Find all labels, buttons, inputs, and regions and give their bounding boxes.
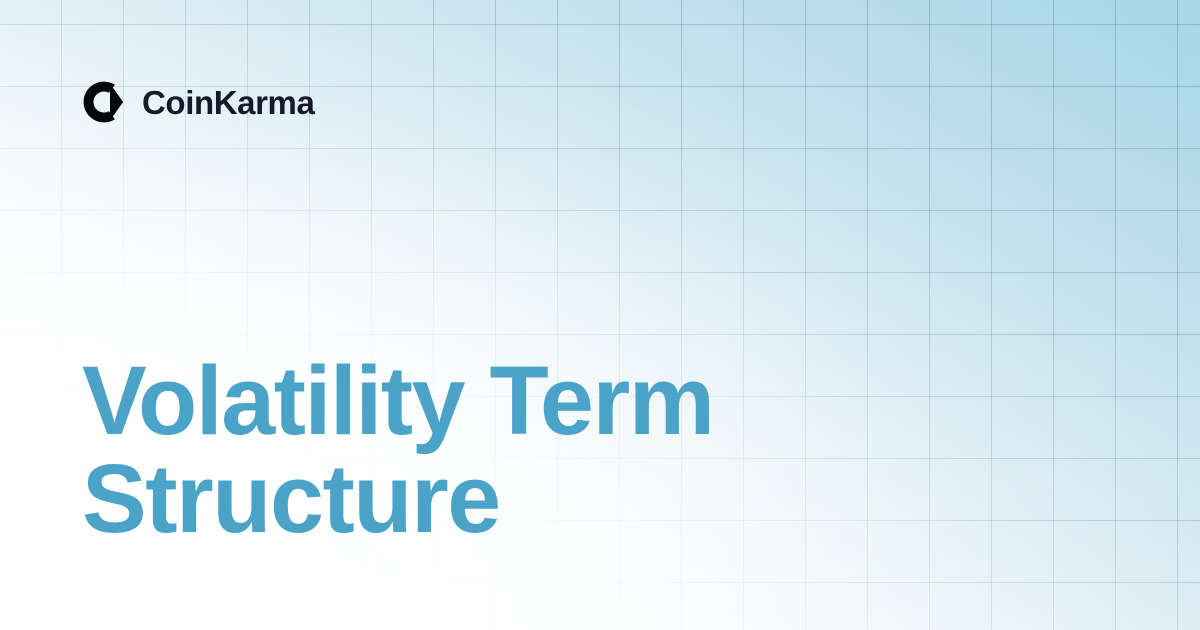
- page-title-line-1: Volatility Term: [82, 352, 1082, 450]
- page-title: Volatility Term Structure: [82, 352, 1082, 548]
- coinkarma-c-wedge-logo-icon: [82, 80, 126, 124]
- brand-name: CoinKarma: [142, 86, 314, 119]
- brand-lockup[interactable]: CoinKarma: [82, 80, 314, 124]
- page-title-line-2: Structure: [82, 450, 1082, 548]
- share-card-canvas: CoinKarma Volatility Term Structure: [0, 0, 1200, 630]
